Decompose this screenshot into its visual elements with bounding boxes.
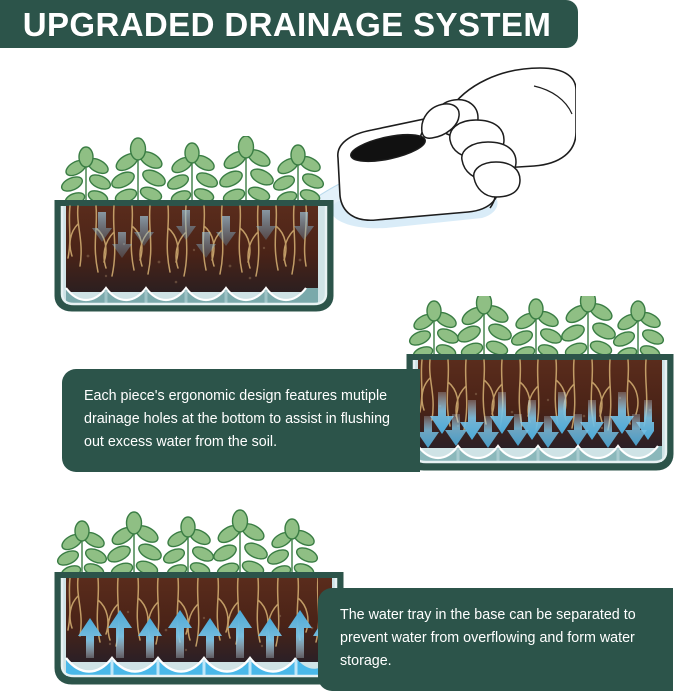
- page-title: UPGRADED DRAINAGE SYSTEM: [13, 8, 551, 41]
- title-banner: UPGRADED DRAINAGE SYSTEM: [0, 0, 578, 48]
- infographic-canvas: UPGRADED DRAINAGE SYSTEM: [0, 0, 679, 691]
- hand-holding-watering-can: [326, 56, 576, 246]
- callout-text: The water tray in the base can be separa…: [340, 604, 653, 673]
- illustration-planter-watering: [54, 136, 354, 318]
- callout-water-tray: The water tray in the base can be separa…: [318, 588, 673, 691]
- callout-drainage-holes: Each piece's ergonomic design features m…: [62, 369, 420, 472]
- illustration-planter-water-storage: [54, 506, 344, 688]
- illustration-planter-draining: [404, 296, 676, 476]
- callout-text: Each piece's ergonomic design features m…: [84, 385, 400, 454]
